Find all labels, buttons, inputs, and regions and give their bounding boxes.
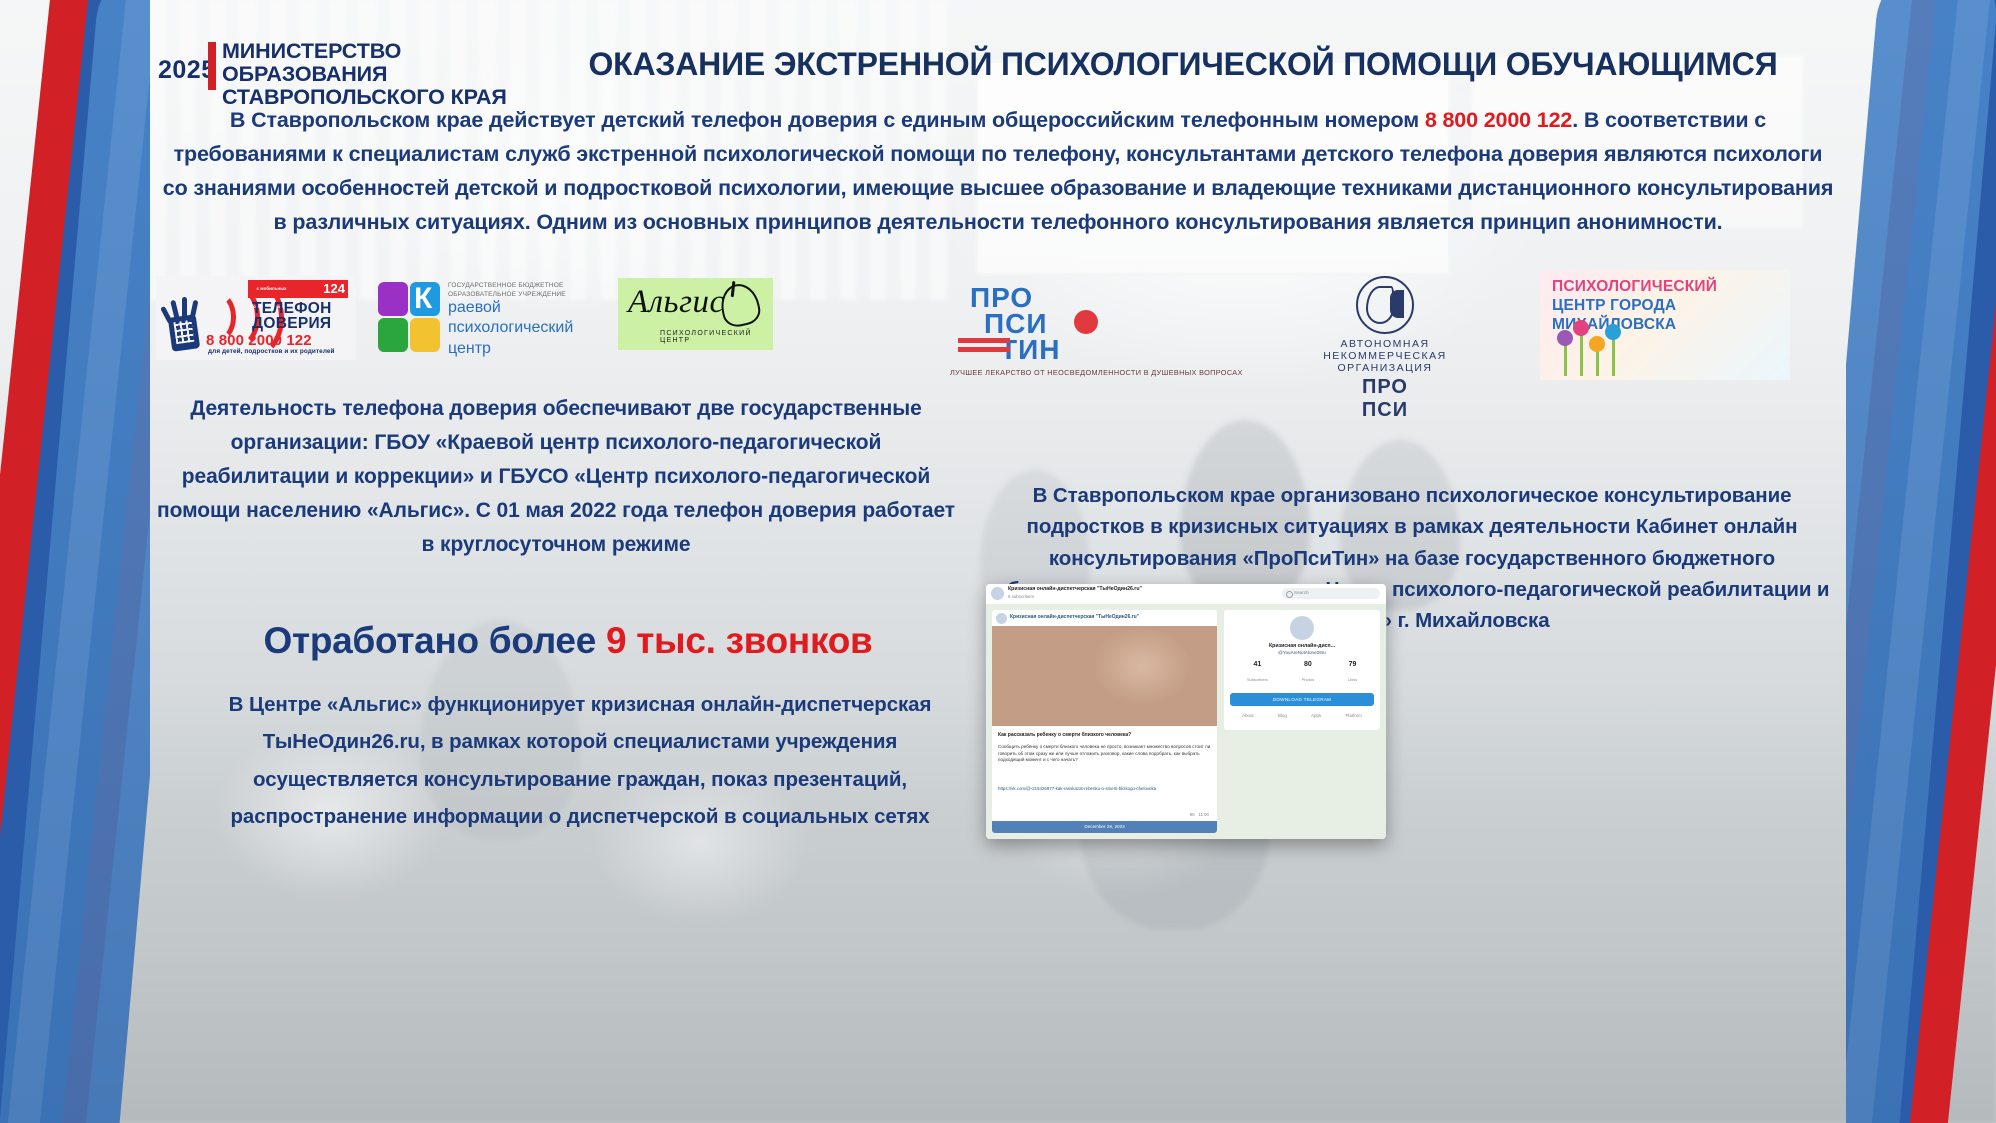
ministry-line-1: МИНИСТЕРСТВО ОБРАЗОВАНИЯ [222, 40, 552, 86]
kpc-line-3: центр [448, 339, 573, 359]
short-number-badge: с мобильныхкороткий номер124 [248, 280, 348, 298]
ano-line-2: НЕКОММЕРЧЕСКАЯ [1290, 350, 1480, 362]
header-red-accent-bar [208, 42, 216, 90]
year-label: 2025 [158, 56, 216, 85]
stat-links: 79 Links [1348, 661, 1357, 686]
profile-avatar [1290, 616, 1314, 640]
post-time: 11:00 [1198, 812, 1209, 817]
intro-part-1: В Ставропольском крае действует детский … [230, 108, 1425, 132]
post-author: Кризисная онлайн-диспетчерская "ТыНеОдин… [1010, 614, 1139, 620]
profile-card: Кризисная онлайн-дисп... @YouAreNotAlone… [1224, 610, 1380, 730]
balloon-icon [1557, 330, 1573, 346]
screenshot-body: Кризисная онлайн-диспетчерская "ТыНеОдин… [986, 604, 1386, 839]
trust-logo-phone: 8 800 2000 122 [206, 332, 312, 349]
short-number-value: 124 [323, 281, 345, 296]
channel-title: Кризисная онлайн-диспетчерская "ТыНеОдин… [1008, 586, 1142, 592]
post-avatar [996, 613, 1007, 624]
logo-kraevoy-psych-center: К ГОСУДАРСТВЕННОЕ БЮДЖЕТНОЕ ОБРАЗОВАТЕЛЬ… [378, 280, 593, 360]
logo-telefon-doveriya: с мобильныхкороткий номер124 ТЕЛЕФОН ДОВ… [156, 276, 356, 360]
post-link[interactable]: https://vk.com/@-215426977-kak-rasskazat… [998, 786, 1211, 792]
ano-line-1: АВТОНОМНАЯ [1290, 338, 1480, 350]
profile-handle: @YouAreNotAlone26ru [1230, 650, 1374, 655]
channel-avatar [991, 587, 1004, 600]
left-tricolor-ribbon [0, 0, 150, 1123]
algis-subtitle: ПСИХОЛОГИЧЕСКИЙ ЦЕНТР [660, 330, 773, 344]
screenshot-header-bar: Кризисная онлайн-диспетчерская "ТыНеОдин… [986, 584, 1386, 605]
hotline-phone-number: 8 800 2000 122 [1425, 108, 1572, 132]
logo-ano-propsi: АВТОНОМНАЯ НЕКОММЕРЧЕСКАЯ ОРГАНИЗАЦИЯ ПР… [1290, 276, 1480, 380]
post-question: Как рассказать ребенку о смерти близкого… [998, 732, 1211, 738]
logo-algis: Альгис ПСИХОЛОГИЧЕСКИЙ ЦЕНТР [618, 278, 773, 350]
profile-name: Кризисная онлайн-дисп... [1230, 643, 1374, 649]
right-tricolor-ribbon [1846, 0, 1996, 1123]
logo-mihaylovsk-center: ПСИХОЛОГИЧЕСКИЙ ЦЕНТР ГОРОДА МИХАЙЛОВСКА [1540, 270, 1790, 380]
nav-platform[interactable]: Platform [1345, 713, 1361, 718]
slide-content: 2025 МИНИСТЕРСТВО ОБРАЗОВАНИЯ СТАВРОПОЛЬ… [150, 0, 1846, 1123]
mobile-phone-icon [168, 314, 200, 352]
telegram-channel-screenshot: Кризисная онлайн-диспетчерская "ТыНеОдин… [986, 584, 1386, 839]
post-header: Кризисная онлайн-диспетчерская "ТыНеОдин… [992, 610, 1217, 627]
post-text: Сообщить ребёнку о смерти близкого челов… [998, 744, 1211, 764]
kpc-tiny-line-1: ГОСУДАРСТВЕННОЕ БЮДЖЕТНОЕ [448, 282, 566, 291]
search-icon [1286, 591, 1293, 598]
kpc-letter-k: К [414, 284, 432, 314]
nav-blog[interactable]: Blog [1278, 713, 1287, 718]
calls-statistic: Отработано более 9 тыс. звонков [168, 620, 968, 662]
balloon-stick [1612, 338, 1615, 376]
partner-logos-strip: с мобильныхкороткий номер124 ТЕЛЕФОН ДОВ… [150, 272, 1846, 382]
ano-brand-line-1: ПРО [1290, 376, 1480, 399]
algis-wordmark: Альгис [628, 284, 725, 321]
ministry-name: МИНИСТЕРСТВО ОБРАЗОВАНИЯ СТАВРОПОЛЬСКОГО… [222, 40, 552, 110]
propsitin-bars-icon [958, 338, 1010, 360]
left-description-text: Деятельность телефона доверия обеспечива… [156, 392, 956, 562]
stat-subscribers-value: 41 [1247, 661, 1268, 668]
channel-subscribers: 6 subscribers [1008, 594, 1034, 599]
stat-subscribers: 41 Subscribers [1247, 661, 1268, 686]
color-square-yellow [410, 318, 440, 352]
calls-statistic-prefix: Отработано более [264, 620, 606, 661]
kpc-line-1: раевой [448, 298, 573, 318]
trust-logo-subtitle: для детей, подростков и их родителей [208, 348, 335, 355]
balloon-stick [1580, 334, 1583, 376]
post-column: Кризисная онлайн-диспетчерская "ТыНеОдин… [992, 610, 1217, 833]
balloon-icon [1573, 320, 1589, 336]
ano-brand-line-2: ПСИ [1290, 399, 1480, 422]
page-title: ОКАЗАНИЕ ЭКСТРЕННОЙ ПСИХОЛОГИЧЕСКОЙ ПОМО… [520, 46, 1846, 83]
kpc-tiny-text: ГОСУДАРСТВЕННОЕ БЮДЖЕТНОЕ ОБРАЗОВАТЕЛЬНО… [448, 282, 566, 300]
stat-links-label: Links [1348, 677, 1357, 682]
stat-links-value: 79 [1348, 661, 1357, 668]
footer-nav: About Blog Apps Platform [1230, 713, 1374, 718]
head-profile-icon [1356, 276, 1414, 334]
search-placeholder: Search [1294, 590, 1309, 595]
stat-photos-value: 80 [1302, 661, 1314, 668]
logo-propsitin: ПРО ПСИ ТИН ЛУЧШЕЕ ЛЕКАРСТВО ОТ НЕОСВЕДО… [950, 282, 1150, 382]
post-meta: 96 11:00 [1190, 812, 1209, 817]
color-square-purple [378, 282, 408, 316]
download-telegram-button[interactable]: DOWNLOAD TELEGRAM [1230, 693, 1374, 706]
stat-photos: 80 Photos [1302, 661, 1314, 686]
color-square-green [378, 318, 408, 352]
intro-paragraph: В Ставропольском крае действует детский … [162, 104, 1834, 240]
propsitin-red-dot-icon [1074, 310, 1098, 334]
bottom-left-description: В Центре «Альгис» функционирует кризисна… [200, 686, 960, 835]
ano-line-3: ОРГАНИЗАЦИЯ [1290, 362, 1480, 374]
balloon-icon [1589, 336, 1605, 352]
post-date-badge: December 28, 2023 [992, 821, 1217, 833]
balloon-stick [1596, 350, 1599, 376]
stat-subscribers-label: Subscribers [1247, 677, 1268, 682]
post-photo [992, 626, 1217, 726]
stat-photos-label: Photos [1302, 677, 1314, 682]
kpc-main-text: раевой психологический центр [448, 298, 573, 359]
search-input[interactable]: Search [1282, 588, 1380, 599]
mihaylovsk-line-2: ЦЕНТР ГОРОДА [1552, 297, 1676, 315]
trust-logo-line-2: ДОВЕРИЯ [252, 315, 331, 333]
nav-apps[interactable]: Apps [1311, 713, 1321, 718]
slide-header: 2025 МИНИСТЕРСТВО ОБРАЗОВАНИЯ СТАВРОПОЛЬ… [150, 28, 1846, 98]
balloon-stick [1564, 344, 1567, 376]
nav-about[interactable]: About [1242, 713, 1253, 718]
balloon-icon [1605, 324, 1621, 340]
slide-root: 2025 МИНИСТЕРСТВО ОБРАЗОВАНИЯ СТАВРОПОЛЬ… [0, 0, 1996, 1123]
post-views: 96 [1190, 812, 1195, 817]
kpc-line-2: психологический [448, 318, 573, 338]
mihaylovsk-line-1: ПСИХОЛОГИЧЕСКИЙ [1552, 278, 1717, 296]
profile-stats: 41 Subscribers 80 Photos 79 Links [1230, 661, 1374, 686]
calls-statistic-value: 9 тыс. звонков [606, 620, 873, 661]
